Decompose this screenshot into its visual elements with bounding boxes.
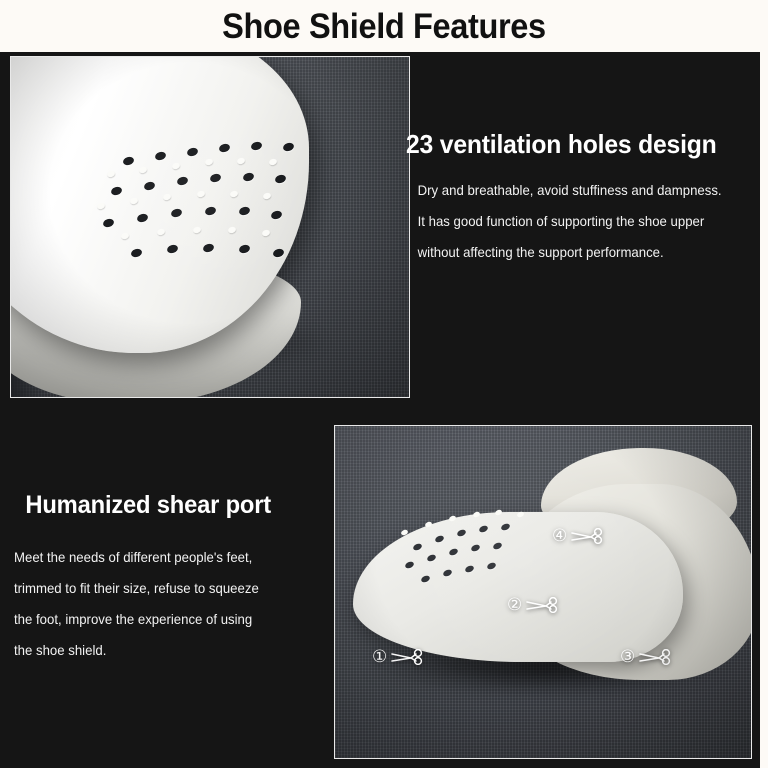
feature-shear-port: Humanized shear port Meet the needs of d…	[14, 492, 328, 666]
feature-heading: Humanized shear port	[14, 492, 312, 520]
title-bar: Shoe Shield Features	[0, 0, 768, 52]
feature-body-line: It has good function of supporting the s…	[418, 206, 746, 237]
photo-vignette	[335, 426, 751, 758]
photo-vignette	[11, 57, 409, 397]
feature-body-line: the shoe shield.	[14, 635, 319, 666]
feature-body: Dry and breathable, avoid stuffiness and…	[406, 175, 746, 268]
content-panel: ① ② ③	[0, 52, 760, 768]
product-feature-graphic: Shoe Shield Features	[0, 0, 768, 768]
feature-body: Meet the needs of different people's fee…	[14, 542, 319, 666]
photo-toe-closeup	[10, 56, 410, 398]
feature-body-line: Dry and breathable, avoid stuffiness and…	[418, 175, 746, 206]
photo-side-view: ① ② ③	[334, 425, 752, 759]
feature-heading: 23 ventilation holes design	[406, 130, 739, 159]
feature-ventilation: 23 ventilation holes design Dry and brea…	[406, 130, 756, 268]
feature-body-line: Meet the needs of different people's fee…	[14, 542, 319, 573]
page-title: Shoe Shield Features	[222, 9, 546, 44]
feature-body-line: the foot, improve the experience of usin…	[14, 604, 319, 635]
feature-body-line: without affecting the support performanc…	[418, 237, 746, 268]
feature-body-line: trimmed to fit their size, refuse to squ…	[14, 573, 319, 604]
